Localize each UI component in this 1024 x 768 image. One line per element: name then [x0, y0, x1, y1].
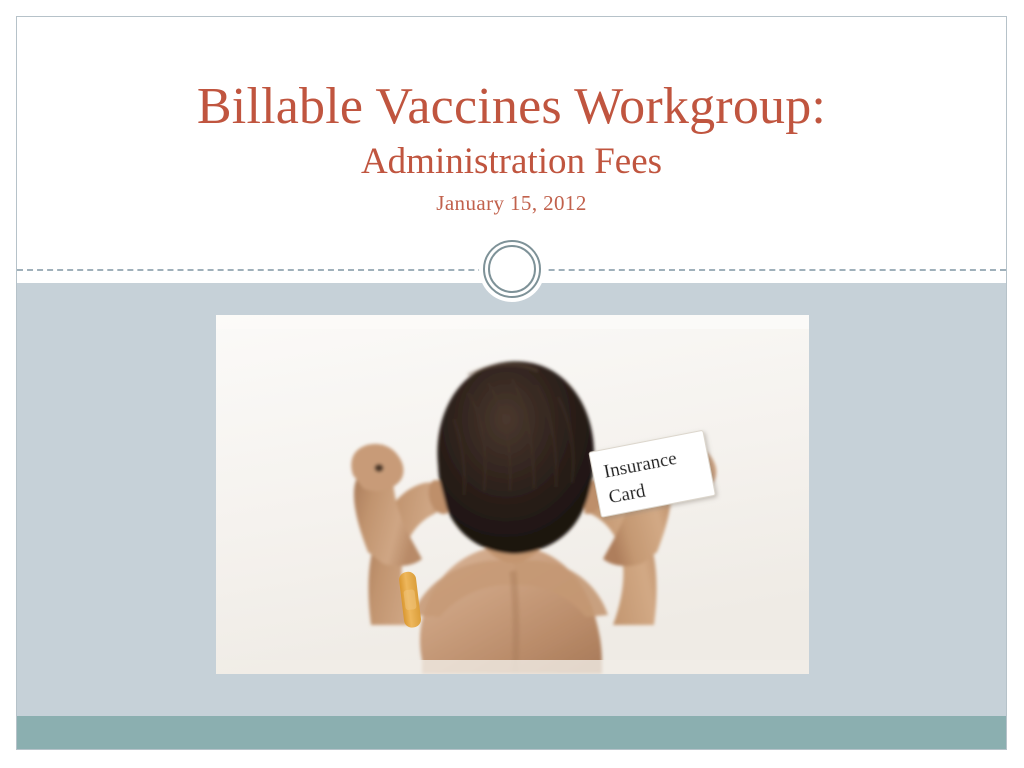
title-zone: Billable Vaccines Workgroup: Administrat… [17, 17, 1006, 269]
presentation-slide: Billable Vaccines Workgroup: Administrat… [16, 16, 1007, 750]
footer-band [17, 716, 1006, 750]
slide-canvas: Billable Vaccines Workgroup: Administrat… [0, 0, 1024, 768]
ornament-ring-inner [488, 245, 536, 293]
slide-date: January 15, 2012 [17, 191, 1006, 216]
slide-photo: Insurance Card [216, 315, 809, 674]
title-block: Billable Vaccines Workgroup: Administrat… [17, 79, 1006, 216]
slide-title: Billable Vaccines Workgroup: [17, 79, 1006, 135]
left-fist-shadow [375, 464, 384, 472]
photo-illustration: Insurance Card [216, 315, 809, 674]
slide-subtitle: Administration Fees [17, 141, 1006, 182]
spine-shading [513, 571, 516, 674]
hair [437, 361, 594, 554]
circle-ornament-icon [479, 236, 545, 302]
